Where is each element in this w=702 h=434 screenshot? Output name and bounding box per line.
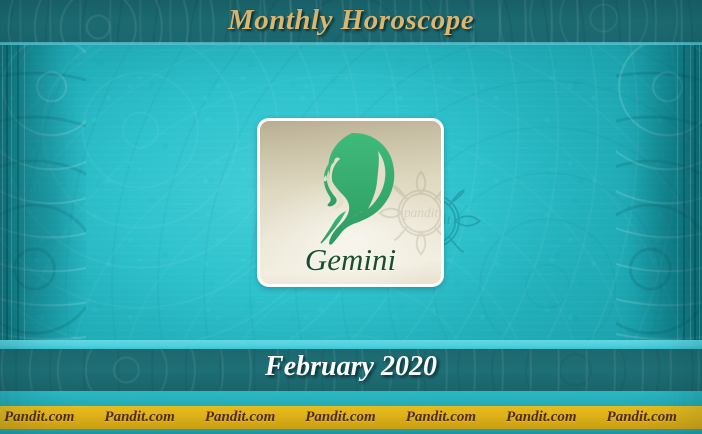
sign-name-label: Gemini	[260, 242, 441, 278]
footer-teal-strip	[0, 391, 702, 406]
bottom-edge-strip	[0, 429, 702, 434]
watermark-ribbon: Pandit.comPandit.comPandit.comPandit.com…	[0, 406, 702, 429]
watermark-text: Pandit.com	[506, 409, 576, 426]
horoscope-banner: pandit Monthly Horoscope	[0, 0, 702, 434]
header-band-highlight	[0, 42, 702, 45]
watermark-track: Pandit.comPandit.comPandit.comPandit.com…	[0, 409, 702, 426]
zodiac-sign-card[interactable]: pandit	[257, 118, 444, 287]
watermark-text: Pandit.com	[205, 409, 275, 426]
watermark-text: Pandit.com	[305, 409, 375, 426]
gemini-twins-icon	[290, 129, 412, 247]
footer-cyan-strip	[0, 340, 702, 349]
period-label: February 2020	[0, 351, 702, 383]
watermark-text: Pandit.com	[104, 409, 174, 426]
watermark-text: Pandit.com	[406, 409, 476, 426]
watermark-text: Pandit.com	[607, 409, 677, 426]
page-title: Monthly Horoscope	[0, 4, 702, 37]
watermark-text: Pandit.com	[4, 409, 74, 426]
